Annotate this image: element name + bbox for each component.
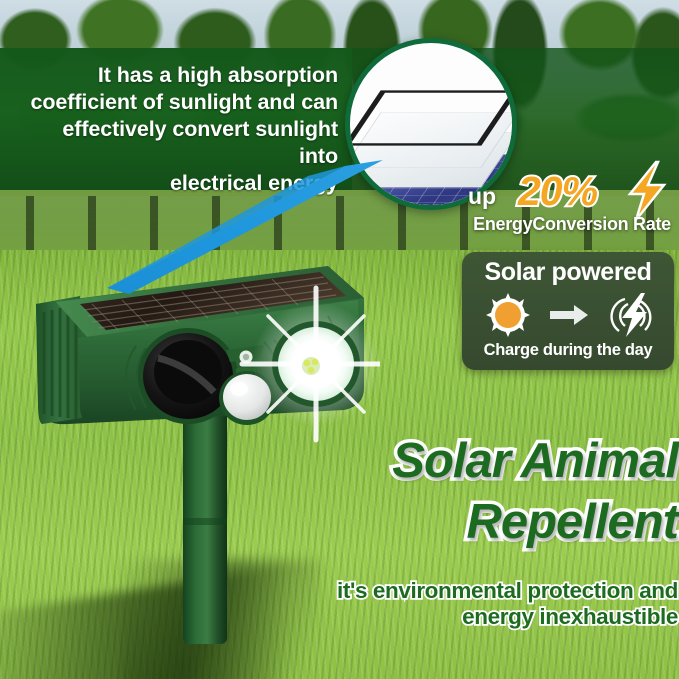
product-subtitle: it's environmental protection and energy… (250, 578, 678, 630)
subtitle-line-1: it's environmental protection and (250, 578, 678, 604)
headline: Solar Animal Repellent (250, 438, 678, 545)
product-marketing-image: It has a high absorption coefficient of … (0, 0, 679, 679)
solar-powered-icon-row (462, 292, 674, 338)
headline-line-1: Solar Animal (392, 434, 678, 488)
feature-callout-text: It has a high absorption coefficient of … (18, 62, 338, 197)
sun-icon (486, 293, 530, 337)
feature-line-1: It has a high absorption (18, 62, 338, 89)
conversion-value-row: up 20% (466, 166, 678, 216)
conversion-label: EnergyConversion Rate (466, 214, 678, 235)
conversion-prefix: up (468, 183, 496, 210)
feature-line-2: coefficient of sunlight and can (18, 89, 338, 116)
device-housing (36, 266, 380, 440)
arrow-right-icon (550, 305, 588, 325)
solar-powered-card: Solar powered (462, 252, 674, 370)
headline-line-2: Repellent (250, 499, 678, 546)
ground-stake (178, 394, 232, 644)
product-title: Solar Animal Repellent (250, 438, 678, 545)
conversion-value-text: 20% (518, 168, 597, 214)
lightning-bolt-glyph (622, 293, 647, 337)
feature-line-3: effectively convert sunlight into (18, 116, 338, 170)
feature-line-4: electrical energy (18, 170, 338, 197)
conversion-badge: up 20% EnergyConversion Rate (466, 166, 678, 244)
solar-powered-footer: Charge during the day (462, 341, 674, 360)
lightning-bolt-icon (616, 160, 678, 222)
conversion-value: 20% (518, 168, 597, 215)
solar-powered-title: Solar powered (462, 258, 674, 287)
subtitle-line-2: energy inexhaustible (250, 604, 678, 630)
